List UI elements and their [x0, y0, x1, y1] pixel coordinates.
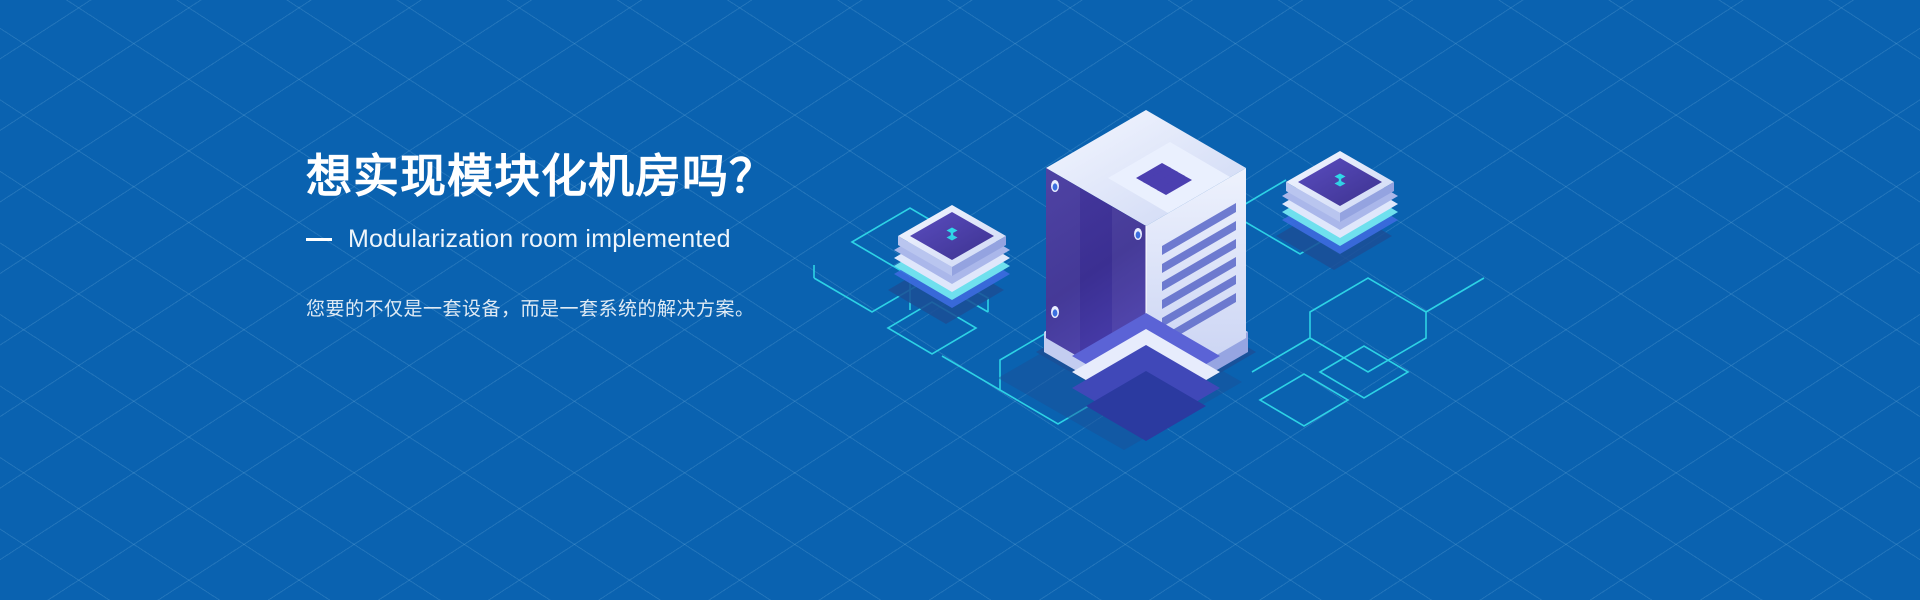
hero-banner: 想实现模块化机房吗？ Modularization room implement…	[0, 0, 1920, 600]
isometric-server-rack-illustration	[790, 60, 1510, 480]
diamond-outline-right	[1320, 346, 1408, 398]
rule-dash-icon	[306, 238, 332, 241]
subtitle: Modularization room implemented	[348, 225, 731, 254]
